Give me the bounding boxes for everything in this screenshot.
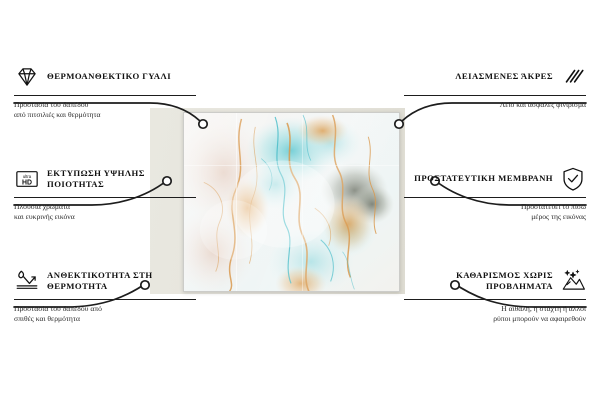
feature-description: Πλούσια χρώματα και ευκρινής εικόνα (14, 202, 196, 223)
polished-edges-icon (560, 64, 586, 90)
feature-description: Η αιθάλη, η στάχτη ή άλλοι ρύποι μπορούν… (404, 304, 586, 325)
desc-line-1: Πλούσια χρώματα (14, 202, 196, 212)
desc-line-1: Προστασία του δαπέδου από (14, 304, 196, 314)
feature-header: ultra HD ΕΚΤΥΠΩΣΗ ΥΨΗΛΗΣ ΠΟΙΟΤΗΤΑΣ (14, 164, 196, 194)
feature-heat-durability: ΑΝΘΕΚΤΙΚΟΤΗΤΑ ΣΤΗ ΘΕΡΜΟΤΗΤΑ Προστασία το… (14, 266, 196, 325)
infographic-canvas: ΘΕΡΜΟΑΝΘΕΚΤΙΚΟ ΓΥΑΛΙ Προστασία του δαπέδ… (0, 0, 600, 400)
feature-easy-cleaning: ΚΑΘΑΡΙΣΜΟΣ ΧΩΡΙΣ ΠΡΟΒΛΗΜΑΤΑ Η αιθάλη, η … (404, 266, 586, 325)
feature-header: ΠΡΟΣΤΑΤΕΥΤΙΚΗ ΜΕΜΒΡΑΝΗ (404, 164, 586, 194)
feature-protective-membrane: ΠΡΟΣΤΑΤΕΥΤΙΚΗ ΜΕΜΒΡΑΝΗ Προστατεύει το πί… (404, 164, 586, 223)
svg-text:HD: HD (22, 179, 32, 186)
desc-line-2: από πιτσιλιές και θερμότητα (14, 110, 196, 120)
ultra-hd-icon: ultra HD (14, 166, 40, 192)
product-image-container (183, 112, 400, 292)
feature-header: ΘΕΡΜΟΑΝΘΕΚΤΙΚΟ ΓΥΑΛΙ (14, 62, 196, 92)
feature-description: Προστατεύει το πίσω μέρος της εικόνας (404, 202, 586, 223)
divider (404, 299, 586, 300)
feature-title: ΠΡΟΣΤΑΤΕΥΤΙΚΗ ΜΕΜΒΡΑΝΗ (414, 173, 553, 185)
feature-title: ΘΕΡΜΟΑΝΘΕΚΤΙΚΟ ΓΥΑΛΙ (47, 71, 171, 83)
desc-line-1: Λείο και ασφαλές φινίρισμα (404, 100, 586, 110)
glass-reflection-line-v2 (302, 113, 303, 291)
desc-line-1: Προστασία του δαπέδου (14, 100, 196, 110)
svg-text:ultra: ultra (23, 174, 32, 179)
feature-title: ΛΕΙΑΣΜΕΝΕΣ ΆΚΡΕΣ (455, 71, 553, 83)
feature-description: Προστασία του δαπέδου από σπιθές και θερ… (14, 304, 196, 325)
feature-polished-edges: ΛΕΙΑΣΜΕΝΕΣ ΆΚΡΕΣ Λείο και ασφαλές φινίρι… (404, 62, 586, 110)
feature-heat-resistant-glass: ΘΕΡΜΟΑΝΘΕΚΤΙΚΟ ΓΥΑΛΙ Προστασία του δαπέδ… (14, 62, 196, 121)
desc-line-1: Προστατεύει το πίσω (404, 202, 586, 212)
shield-check-icon (560, 166, 586, 192)
desc-line-2: σπιθές και θερμότητα (14, 314, 196, 324)
feature-description: Λείο και ασφαλές φινίρισμα (404, 100, 586, 110)
feature-header: ΚΑΘΑΡΙΣΜΟΣ ΧΩΡΙΣ ΠΡΟΒΛΗΜΑΤΑ (404, 266, 586, 296)
divider (14, 299, 196, 300)
sparkle-clean-icon (560, 268, 586, 294)
feature-description: Προστασία του δαπέδου από πιτσιλιές και … (14, 100, 196, 121)
divider (14, 197, 196, 198)
feature-title: ΕΚΤΥΠΩΣΗ ΥΨΗΛΗΣ ΠΟΙΟΤΗΤΑΣ (47, 168, 196, 191)
marble-artwork (184, 113, 399, 291)
flame-deflect-icon (14, 268, 40, 294)
glass-panel (183, 112, 400, 292)
glass-reflection-line-h (184, 165, 399, 166)
diamond-icon (14, 64, 40, 90)
desc-line-2: ρύποι μπορούν να αφαιρεθούν (404, 314, 586, 324)
feature-title: ΑΝΘΕΚΤΙΚΟΤΗΤΑ ΣΤΗ ΘΕΡΜΟΤΗΤΑ (47, 270, 196, 293)
divider (14, 95, 196, 96)
desc-line-1: Η αιθάλη, η στάχτη ή άλλοι (404, 304, 586, 314)
divider (404, 197, 586, 198)
divider (404, 95, 586, 96)
feature-title: ΚΑΘΑΡΙΣΜΟΣ ΧΩΡΙΣ ΠΡΟΒΛΗΜΑΤΑ (404, 270, 553, 293)
desc-line-2: και ευκρινής εικόνα (14, 212, 196, 222)
glass-reflection-line-v1 (236, 113, 237, 291)
desc-line-2: μέρος της εικόνας (404, 212, 586, 222)
feature-header: ΑΝΘΕΚΤΙΚΟΤΗΤΑ ΣΤΗ ΘΕΡΜΟΤΗΤΑ (14, 266, 196, 296)
feature-high-quality-print: ultra HD ΕΚΤΥΠΩΣΗ ΥΨΗΛΗΣ ΠΟΙΟΤΗΤΑΣ Πλούσ… (14, 164, 196, 223)
feature-header: ΛΕΙΑΣΜΕΝΕΣ ΆΚΡΕΣ (404, 62, 586, 92)
